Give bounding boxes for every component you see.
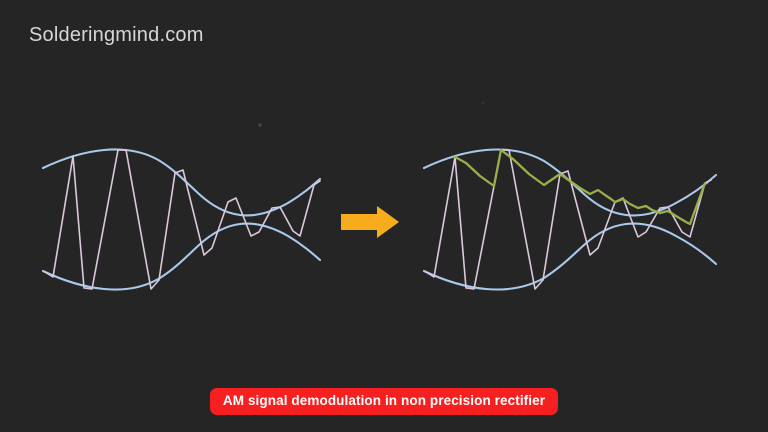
panel-output-demodulated-signal [424,149,716,289]
arrow-right-icon [341,206,399,238]
upper-envelope-curve-right [424,149,716,215]
carrier-waveform-left [45,150,320,289]
caption-container: AM signal demodulation in non precision … [0,388,768,415]
stray-pixel-artifact-right [482,102,485,105]
figure-canvas: Solderingmind.com [0,0,768,432]
lower-envelope-curve-left [43,224,320,290]
demodulated-output-trace [455,150,705,224]
caption-badge: AM signal demodulation in non precision … [210,388,558,415]
upper-envelope-curve-left [43,149,320,215]
carrier-waveform-right [426,150,711,289]
stray-pixel-artifact-left [258,123,261,126]
transformation-arrow [341,206,399,238]
am-demodulation-diagram [0,0,768,432]
lower-envelope-curve-right [424,224,716,290]
panel-input-am-signal [43,149,320,289]
